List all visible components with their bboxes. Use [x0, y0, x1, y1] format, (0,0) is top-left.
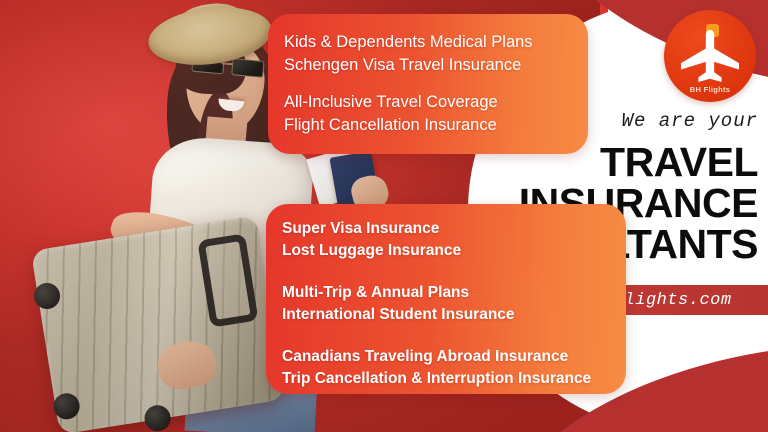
logo-caption: BH Flights [664, 85, 756, 94]
travel-insurance-poster: BH Flights We are your TRAVEL INSURANCE … [0, 0, 768, 432]
services-card-bottom: Super Visa Insurance Lost Luggage Insura… [266, 204, 626, 394]
service-line: Trip Cancellation & Interruption Insuran… [282, 368, 626, 390]
service-line: International Student Insurance [282, 304, 626, 326]
service-line: Canadians Traveling Abroad Insurance [282, 346, 626, 368]
services-card-top: Kids & Dependents Medical Plans Schengen… [268, 14, 588, 154]
service-line: Super Visa Insurance [282, 218, 626, 240]
bh-flights-logo[interactable]: BH Flights [664, 10, 756, 102]
service-line: Flight Cancellation Insurance [284, 114, 588, 137]
service-group: All-Inclusive Travel Coverage Flight Can… [284, 91, 588, 137]
service-group: Super Visa Insurance Lost Luggage Insura… [282, 218, 626, 262]
service-line: Lost Luggage Insurance [282, 240, 626, 262]
service-group: Multi-Trip & Annual Plans International … [282, 282, 626, 326]
service-group: Canadians Traveling Abroad Insurance Tri… [282, 346, 626, 390]
airplane-icon [679, 30, 741, 82]
service-line: Schengen Visa Travel Insurance [284, 54, 588, 77]
service-line: All-Inclusive Travel Coverage [284, 91, 588, 114]
service-line: Multi-Trip & Annual Plans [282, 282, 626, 304]
service-group: Kids & Dependents Medical Plans Schengen… [284, 31, 588, 77]
service-line: Kids & Dependents Medical Plans [284, 31, 588, 54]
